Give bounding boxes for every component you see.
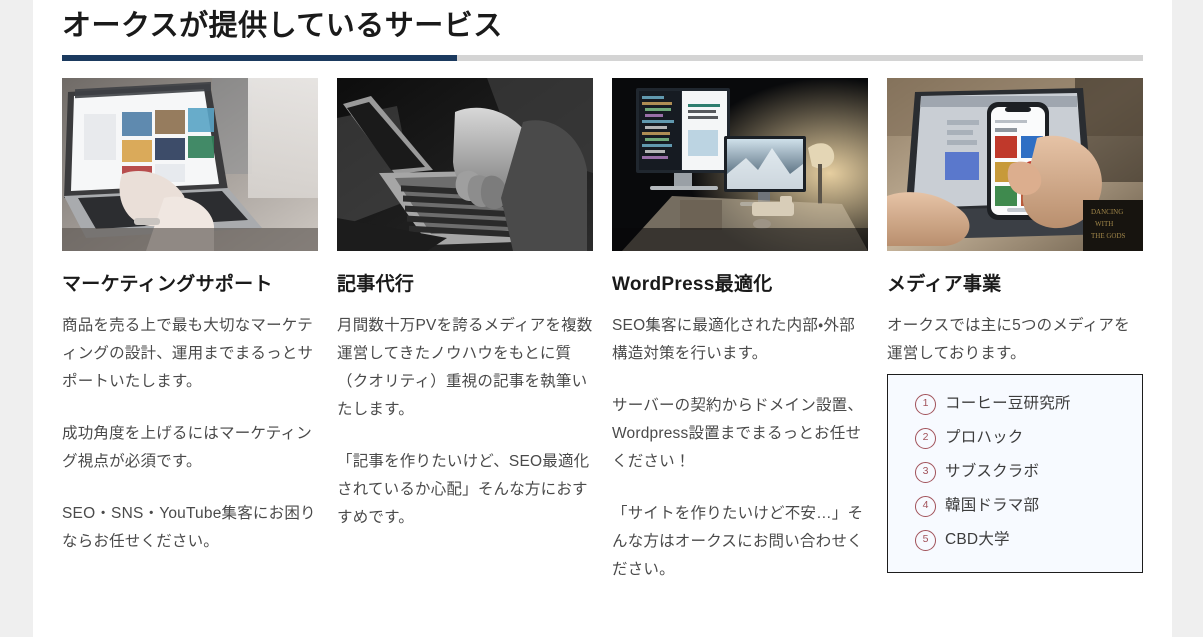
media-list: 1 コーヒー豆研究所 2 プロハック 3 サブスクラボ 4 xyxy=(902,392,1128,552)
card-title: メディア事業 xyxy=(887,251,1143,298)
phone-and-laptop-photo: DANCING WITH THE GODS xyxy=(887,78,1143,251)
card-body: 商品を売る上で最も大切なマーケティングの設計、運用までまるっとサポートいたします… xyxy=(62,298,318,556)
card-paragraph: 月間数十万PVを誇るメディアを複数運営してきたノウハウをもとに質（クオリティ）重… xyxy=(337,312,593,424)
card-body: 月間数十万PVを誇るメディアを複数運営してきたノウハウをもとに質（クオリティ）重… xyxy=(337,298,593,532)
card-title: WordPress最適化 xyxy=(612,251,868,298)
service-cards-grid: マーケティングサポート 商品を売る上で最も大切なマーケティングの設計、運用までま… xyxy=(62,78,1172,584)
list-item[interactable]: 2 プロハック xyxy=(902,426,1128,450)
card-title: マーケティングサポート xyxy=(62,251,318,298)
list-item-label: CBD大学 xyxy=(945,528,1010,552)
card-paragraph: サーバーの契約からドメイン設置、Wordpress設置までまるっとお任せください… xyxy=(612,392,868,476)
page-title: オークスが提供しているサービス xyxy=(62,6,1143,46)
section-header: オークスが提供しているサービス xyxy=(62,6,1143,61)
list-number-badge: 5 xyxy=(915,530,936,551)
list-item-label: コーヒー豆研究所 xyxy=(945,392,1071,416)
hands-typing-laptop-bw-photo xyxy=(337,78,593,251)
service-card: WordPress最適化 SEO集客に最適化された内部・外部構造対策を行います。… xyxy=(612,78,868,584)
svg-text:THE GODS: THE GODS xyxy=(1091,232,1126,240)
card-paragraph: 成功角度を上げるにはマーケティング視点が必須です。 xyxy=(62,420,318,476)
svg-text:WITH: WITH xyxy=(1095,220,1113,228)
list-number-badge: 2 xyxy=(915,428,936,449)
list-item-label: 韓国ドラマ部 xyxy=(945,494,1039,518)
card-paragraph: 商品を売る上で最も大切なマーケティングの設計、運用までまるっとサポートいたします… xyxy=(62,312,318,396)
list-item[interactable]: 1 コーヒー豆研究所 xyxy=(902,392,1128,416)
card-body: オークスでは主に5つのメディアを運営しております。 xyxy=(887,298,1143,368)
svg-text:DANCING: DANCING xyxy=(1091,208,1123,216)
card-paragraph: 「サイトを作りたいけど不安…」そんな方はオークスにお問い合わせください。 xyxy=(612,500,868,584)
list-item[interactable]: 3 サブスクラボ xyxy=(902,460,1128,484)
content-sheet: オークスが提供しているサービス xyxy=(33,0,1172,637)
card-paragraph: オークスでは主に5つのメディアを運営しております。 xyxy=(887,312,1143,368)
service-card: マーケティングサポート 商品を売る上で最も大切なマーケティングの設計、運用までま… xyxy=(62,78,318,584)
card-paragraph: SEO集客に最適化された内部・外部構造対策を行います。 xyxy=(612,312,868,368)
card-paragraph: SEO・SNS・YouTube集客にお困りならお任せください。 xyxy=(62,500,318,556)
title-underline-rule xyxy=(62,55,1143,61)
list-number-badge: 1 xyxy=(915,394,936,415)
service-card: DANCING WITH THE GODS メディア事業 オークスでは主に5つの… xyxy=(887,78,1143,584)
media-list-box: 1 コーヒー豆研究所 2 プロハック 3 サブスクラボ 4 xyxy=(887,374,1143,573)
list-item-label: プロハック xyxy=(945,426,1024,450)
card-title: 記事代行 xyxy=(337,251,593,298)
page-background: オークスが提供しているサービス xyxy=(0,0,1203,637)
laptop-browsing-photo xyxy=(62,78,318,251)
dark-desk-dual-monitor-photo xyxy=(612,78,868,251)
list-item[interactable]: 4 韓国ドラマ部 xyxy=(902,494,1128,518)
card-paragraph: 「記事を作りたいけど、SEO最適化されているか心配」そんな方におすすめです。 xyxy=(337,448,593,532)
list-item[interactable]: 5 CBD大学 xyxy=(902,528,1128,552)
card-body: SEO集客に最適化された内部・外部構造対策を行います。 サーバーの契約からドメイ… xyxy=(612,298,868,584)
list-number-badge: 4 xyxy=(915,496,936,517)
title-underline-accent xyxy=(62,55,457,61)
list-item-label: サブスクラボ xyxy=(945,460,1039,484)
service-card: 記事代行 月間数十万PVを誇るメディアを複数運営してきたノウハウをもとに質（クオ… xyxy=(337,78,593,584)
list-number-badge: 3 xyxy=(915,462,936,483)
